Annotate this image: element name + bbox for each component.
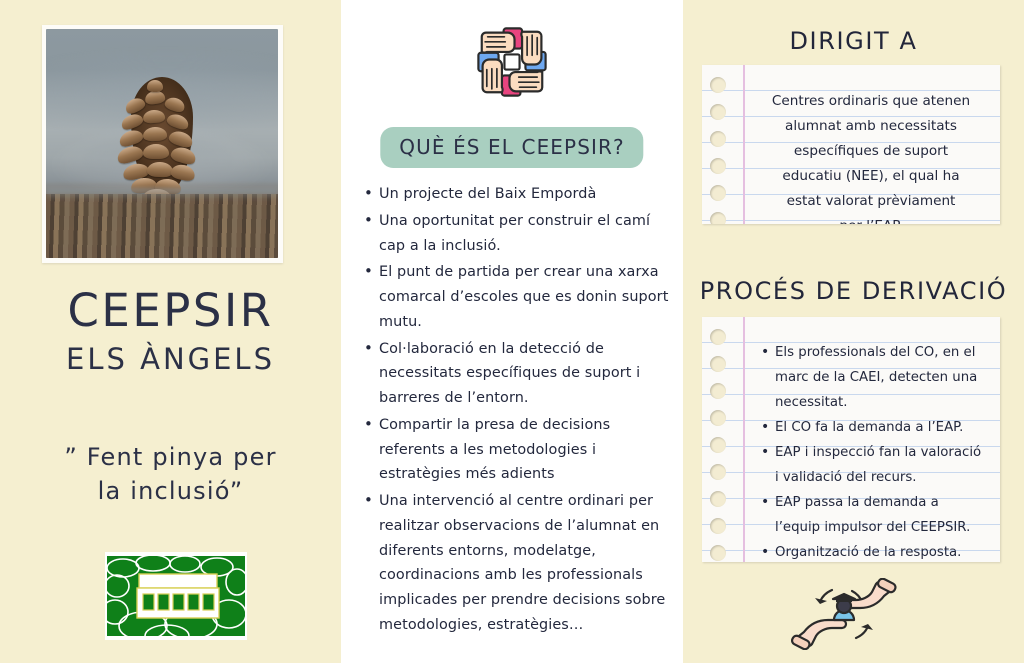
ring-hole	[710, 104, 726, 120]
list-item: El punt de partida per crear una xarxa c…	[363, 260, 669, 334]
brochure-page: CEEPSIR ELS ÀNGELS ” Fent pinya per la i…	[0, 0, 1024, 663]
ring-hole	[710, 77, 726, 93]
motto-line-2: la inclusió”	[22, 474, 319, 508]
section-heading-que-es: QUÈ ÉS EL CEEPSIR?	[380, 127, 643, 168]
page-title: CEEPSIR	[0, 288, 341, 335]
paper-ring-holes	[710, 77, 726, 224]
motto: ” Fent pinya per la inclusió”	[22, 440, 319, 508]
list-item: Un projecte del Baix Empordà	[363, 182, 669, 207]
text-line: per l’EAP.	[754, 214, 988, 224]
section-heading-dirigit-a: DIRIGIT A	[683, 27, 1024, 55]
list-item: Compartir la presa de decisions referent…	[363, 413, 669, 487]
list-item: Una oportunitat per construir el camí ca…	[363, 209, 669, 259]
text-line: educatiu (NEE), el qual ha	[754, 164, 988, 189]
text-line: estat valorat prèviament	[754, 189, 988, 214]
ring-hole	[710, 185, 726, 201]
center-panel: QUÈ ÉS EL CEEPSIR? Un projecte del Baix …	[341, 0, 683, 663]
list-item: EAP passa la demanda a l’equip impulsor …	[760, 490, 988, 540]
notepaper-proces-derivacio: Els professionals del CO, en el marc de …	[702, 317, 1000, 562]
brand-block: CEEPSIR ELS ÀNGELS	[0, 288, 341, 374]
ring-hole	[710, 383, 726, 399]
proces-derivacio-list: Els professionals del CO, en el marc de …	[760, 340, 988, 562]
dirigit-a-text: Centres ordinaris que atenen alumnat amb…	[754, 89, 988, 224]
ring-hole	[710, 356, 726, 372]
section-heading-proces-derivacio: PROCÉS DE DERIVACIÓ	[683, 277, 1024, 305]
paper-margin-line	[743, 65, 745, 224]
right-panel: DIRIGIT A Centres ordinaris que atenen a…	[683, 0, 1024, 663]
ring-hole	[710, 131, 726, 147]
text-line: alumnat amb necessitats	[754, 114, 988, 139]
motto-line-1: ” Fent pinya per	[22, 440, 319, 474]
school-building-icon	[105, 552, 247, 640]
center-bullet-list: Un projecte del Baix Empordà Una oportun…	[363, 182, 669, 640]
notepaper-dirigit-a: Centres ordinaris que atenen alumnat amb…	[702, 65, 1000, 224]
left-panel: CEEPSIR ELS ÀNGELS ” Fent pinya per la i…	[0, 0, 341, 663]
pine-cone-subject	[119, 77, 205, 205]
ring-hole	[710, 158, 726, 174]
ring-hole	[710, 329, 726, 345]
paper-margin-line	[743, 317, 745, 562]
ring-hole	[710, 545, 726, 561]
list-item: Una intervenció al centre ordinari per r…	[363, 489, 669, 638]
text-line: específiques de suport	[754, 139, 988, 164]
ring-hole	[710, 464, 726, 480]
pine-cone-photo	[42, 25, 283, 263]
hands-holding-graduate-icon	[790, 578, 898, 650]
photo-image	[46, 29, 278, 258]
bark-texture	[46, 194, 278, 258]
paper-ring-holes	[710, 329, 726, 561]
list-item: El CO fa la demanda a l’EAP.	[760, 415, 988, 440]
page-subtitle: ELS ÀNGELS	[0, 344, 341, 374]
list-item: Els professionals del CO, en el marc de …	[760, 340, 988, 415]
list-item: Col·laboració en la detecció de necessit…	[363, 337, 669, 411]
list-item: Organització de la resposta.	[760, 540, 988, 562]
list-item: EAP i inspecció fan la valoració i valid…	[760, 440, 988, 490]
four-hands-teamwork-icon	[470, 20, 554, 104]
text-line: Centres ordinaris que atenen	[754, 89, 988, 114]
ring-hole	[710, 518, 726, 534]
ring-hole	[710, 491, 726, 507]
ring-hole	[710, 410, 726, 426]
ring-hole	[710, 212, 726, 224]
ring-hole	[710, 437, 726, 453]
